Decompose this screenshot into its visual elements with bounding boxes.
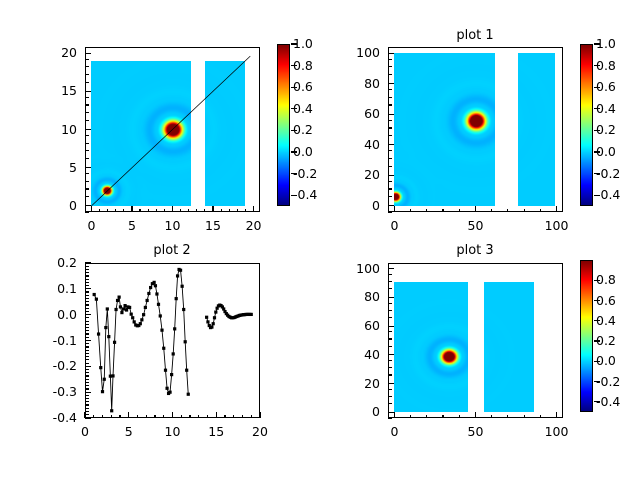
x-minor-tick — [233, 415, 234, 419]
y-minor-tick — [85, 321, 89, 322]
y-minor-tick — [85, 173, 89, 174]
y-minor-tick — [85, 188, 89, 189]
y-minor-tick — [85, 408, 89, 409]
y-minor-tick — [85, 266, 89, 267]
y-major-tick — [388, 53, 394, 54]
y-major-tick — [85, 288, 91, 289]
x-major-tick — [131, 206, 132, 212]
y-minor-tick — [85, 330, 89, 331]
x-tick-label: 5 — [125, 426, 133, 439]
y-minor-tick — [85, 291, 89, 292]
x-minor-tick — [102, 415, 103, 419]
y-minor-tick — [85, 196, 89, 197]
colorbar-tick-label: 0.4 — [293, 103, 313, 116]
x-tick-label: 10 — [165, 426, 181, 439]
colorbar-tick-label: 0.8 — [293, 59, 313, 72]
y-tick-label: -0.2 — [53, 360, 77, 373]
y-tick-label: 80 — [364, 77, 380, 90]
y-minor-tick — [388, 396, 392, 397]
y-major-tick — [388, 114, 394, 115]
x-minor-tick — [507, 209, 508, 213]
y-major-tick — [85, 53, 91, 54]
x-minor-tick — [237, 209, 238, 213]
figure-canvas: 05101520051015201.00.80.60.40.20.0-0.2-0… — [0, 0, 640, 480]
x-major-tick — [556, 412, 557, 418]
x-minor-tick — [164, 209, 165, 213]
y-tick-label: 40 — [364, 349, 380, 362]
colorbar-tick-label: 1.0 — [596, 38, 616, 51]
y-minor-tick — [85, 279, 89, 280]
x-tick-label: 100 — [545, 220, 569, 233]
y-tick-label: 0 — [372, 406, 380, 419]
y-major-tick — [85, 392, 91, 393]
y-tick-label: 60 — [364, 320, 380, 333]
y-tick-label: 20 — [364, 169, 380, 182]
y-minor-tick — [85, 311, 89, 312]
y-minor-tick — [85, 120, 89, 121]
y-minor-tick — [388, 89, 392, 90]
x-minor-tick — [207, 415, 208, 419]
x-minor-tick — [442, 209, 443, 213]
x-minor-tick — [139, 209, 140, 213]
x-tick-label: 20 — [252, 426, 268, 439]
x-minor-tick — [123, 209, 124, 213]
panel-bottom-right-axes-frame — [388, 263, 563, 418]
x-tick-label: 50 — [468, 220, 484, 233]
y-minor-tick — [85, 59, 89, 60]
y-minor-tick — [85, 275, 89, 276]
y-minor-tick — [388, 403, 392, 404]
y-minor-tick — [85, 324, 89, 325]
colorbar-tick-label: 0.4 — [596, 315, 616, 328]
y-minor-tick — [388, 303, 392, 304]
y-minor-tick — [85, 181, 89, 182]
x-minor-tick — [181, 415, 182, 419]
colorbar-tick-label: 0.2 — [293, 124, 313, 137]
colorbar-tick-label: 0.4 — [596, 103, 616, 116]
y-minor-tick — [85, 298, 89, 299]
colorbar-tick-label: -0.2 — [596, 167, 620, 180]
colorbar-tick-label: 0.8 — [596, 274, 616, 287]
panel-top-right-title: plot 1 — [456, 29, 493, 42]
x-major-tick — [259, 412, 260, 418]
x-minor-tick — [507, 415, 508, 419]
y-minor-tick — [85, 282, 89, 283]
y-minor-tick — [85, 272, 89, 273]
x-major-tick — [475, 206, 476, 212]
x-major-tick — [91, 206, 92, 212]
y-minor-tick — [85, 66, 89, 67]
y-tick-label: 0.2 — [57, 257, 77, 270]
x-minor-tick — [154, 415, 155, 419]
y-minor-tick — [85, 97, 89, 98]
x-minor-tick — [180, 209, 181, 213]
x-major-tick — [172, 206, 173, 212]
colorbar-tick-label: 0.6 — [596, 81, 616, 94]
x-minor-tick — [137, 415, 138, 419]
x-minor-tick — [204, 209, 205, 213]
y-major-tick — [85, 314, 91, 315]
colorbar-tick-label: -0.4 — [596, 189, 620, 202]
colorbar-tick-label: -0.2 — [596, 375, 620, 388]
y-minor-tick — [85, 404, 89, 405]
y-tick-label: 60 — [364, 108, 380, 121]
x-minor-tick — [189, 415, 190, 419]
y-minor-tick — [85, 369, 89, 370]
x-minor-tick — [459, 209, 460, 213]
x-minor-tick — [540, 209, 541, 213]
x-minor-tick — [442, 415, 443, 419]
y-major-tick — [85, 205, 91, 206]
colorbar-tick-label: 0.6 — [293, 81, 313, 94]
x-minor-tick — [229, 209, 230, 213]
y-tick-label: 0 — [372, 200, 380, 213]
y-major-tick — [388, 268, 394, 269]
y-major-tick — [388, 83, 394, 84]
y-tick-label: 0 — [69, 200, 77, 213]
y-minor-tick — [388, 120, 392, 121]
x-tick-label: 50 — [468, 426, 484, 439]
panel-top-left-axes-frame — [85, 47, 260, 212]
y-minor-tick — [388, 288, 392, 289]
y-major-tick — [388, 205, 394, 206]
y-tick-label: 0.1 — [57, 283, 77, 296]
colorbar-tick-label: -0.4 — [293, 189, 317, 202]
y-minor-tick — [85, 333, 89, 334]
y-minor-tick — [388, 181, 392, 182]
x-minor-tick — [93, 415, 94, 419]
y-minor-tick — [85, 388, 89, 389]
y-minor-tick — [85, 395, 89, 396]
y-major-tick — [388, 144, 394, 145]
x-major-tick — [172, 412, 173, 418]
x-tick-label: 15 — [208, 426, 224, 439]
x-minor-tick — [146, 415, 147, 419]
x-tick-label: 0 — [81, 426, 89, 439]
colorbar-tick-label: 0.0 — [596, 355, 616, 368]
y-major-tick — [85, 417, 91, 418]
colorbar-tick-label: 0.6 — [596, 294, 616, 307]
x-minor-tick — [524, 209, 525, 213]
x-major-tick — [556, 206, 557, 212]
x-minor-tick — [524, 415, 525, 419]
y-minor-tick — [85, 372, 89, 373]
colorbar-tick-label: 1.0 — [293, 38, 313, 51]
x-minor-tick — [196, 209, 197, 213]
y-minor-tick — [85, 285, 89, 286]
y-minor-tick — [388, 66, 392, 67]
y-tick-label: 40 — [364, 139, 380, 152]
y-minor-tick — [388, 127, 392, 128]
x-minor-tick — [251, 415, 252, 419]
y-minor-tick — [85, 327, 89, 328]
x-major-tick — [394, 206, 395, 212]
y-minor-tick — [388, 389, 392, 390]
y-tick-label: 5 — [69, 161, 77, 174]
y-minor-tick — [388, 59, 392, 60]
y-minor-tick — [85, 82, 89, 83]
y-minor-tick — [85, 353, 89, 354]
y-major-tick — [85, 340, 91, 341]
y-minor-tick — [388, 360, 392, 361]
y-minor-tick — [388, 74, 392, 75]
y-minor-tick — [85, 363, 89, 364]
x-minor-tick — [198, 415, 199, 419]
y-minor-tick — [388, 196, 392, 197]
y-tick-label: 20 — [364, 377, 380, 390]
panel-bottom-right-colorbar — [580, 260, 593, 412]
y-minor-tick — [85, 269, 89, 270]
y-minor-tick — [388, 317, 392, 318]
x-tick-label: 0 — [390, 426, 398, 439]
y-minor-tick — [388, 274, 392, 275]
y-minor-tick — [85, 359, 89, 360]
y-tick-label: 80 — [364, 291, 380, 304]
y-minor-tick — [85, 385, 89, 386]
x-minor-tick — [119, 415, 120, 419]
y-minor-tick — [85, 301, 89, 302]
panel-top-right-colorbar — [580, 44, 593, 206]
y-tick-label: -0.1 — [53, 334, 77, 347]
y-minor-tick — [85, 356, 89, 357]
x-minor-tick — [107, 209, 108, 213]
y-minor-tick — [388, 166, 392, 167]
y-major-tick — [85, 91, 91, 92]
x-tick-label: 15 — [205, 220, 221, 233]
y-major-tick — [388, 326, 394, 327]
x-tick-label: 0 — [87, 220, 95, 233]
y-minor-tick — [388, 97, 392, 98]
y-tick-label: 15 — [61, 85, 77, 98]
y-tick-label: -0.3 — [53, 386, 77, 399]
y-minor-tick — [85, 317, 89, 318]
y-minor-tick — [85, 135, 89, 136]
y-minor-tick — [85, 112, 89, 113]
panel-bottom-left-axes-frame — [85, 263, 260, 418]
y-minor-tick — [388, 331, 392, 332]
y-tick-label: 100 — [356, 262, 380, 275]
x-minor-tick — [242, 415, 243, 419]
y-major-tick — [388, 354, 394, 355]
y-minor-tick — [85, 308, 89, 309]
x-tick-label: 100 — [545, 426, 569, 439]
y-minor-tick — [388, 281, 392, 282]
x-tick-label: 10 — [165, 220, 181, 233]
y-minor-tick — [388, 338, 392, 339]
y-tick-label: 20 — [61, 47, 77, 60]
y-minor-tick — [388, 374, 392, 375]
y-minor-tick — [388, 150, 392, 151]
x-major-tick — [394, 412, 395, 418]
y-minor-tick — [85, 343, 89, 344]
x-minor-tick — [491, 415, 492, 419]
x-minor-tick — [99, 209, 100, 213]
y-minor-tick — [85, 150, 89, 151]
x-tick-label: 20 — [246, 220, 262, 233]
x-major-tick — [253, 206, 254, 212]
y-minor-tick — [85, 375, 89, 376]
y-minor-tick — [85, 337, 89, 338]
colorbar-tick-label: 0.0 — [293, 146, 313, 159]
panel-top-left-colorbar — [277, 44, 290, 206]
x-minor-tick — [221, 209, 222, 213]
colorbar-tick-label: 0.2 — [596, 124, 616, 137]
y-tick-label: -0.4 — [53, 412, 77, 425]
colorbar-tick-label: -0.2 — [293, 167, 317, 180]
x-minor-tick — [224, 415, 225, 419]
x-major-tick — [128, 412, 129, 418]
y-minor-tick — [85, 346, 89, 347]
y-major-tick — [85, 167, 91, 168]
x-minor-tick — [410, 209, 411, 213]
y-minor-tick — [388, 104, 392, 105]
y-minor-tick — [85, 304, 89, 305]
colorbar-tick-label: 0.2 — [596, 335, 616, 348]
y-minor-tick — [85, 414, 89, 415]
y-tick-label: 0.0 — [57, 308, 77, 321]
y-minor-tick — [85, 401, 89, 402]
y-tick-label: 100 — [356, 47, 380, 60]
x-minor-tick — [245, 209, 246, 213]
panel-bottom-left-title: plot 2 — [153, 244, 190, 257]
panel-bottom-right-title: plot 3 — [456, 244, 493, 257]
x-minor-tick — [188, 209, 189, 213]
y-major-tick — [388, 175, 394, 176]
x-major-tick — [475, 412, 476, 418]
y-minor-tick — [388, 135, 392, 136]
y-minor-tick — [388, 417, 392, 418]
y-minor-tick — [85, 143, 89, 144]
y-minor-tick — [388, 310, 392, 311]
x-major-tick — [212, 206, 213, 212]
x-minor-tick — [426, 415, 427, 419]
x-minor-tick — [156, 209, 157, 213]
y-major-tick — [388, 297, 394, 298]
y-minor-tick — [388, 188, 392, 189]
y-major-tick — [388, 383, 394, 384]
colorbar-tick-label: 0.8 — [596, 59, 616, 72]
y-minor-tick — [85, 211, 89, 212]
y-minor-tick — [388, 367, 392, 368]
x-minor-tick — [163, 415, 164, 419]
x-minor-tick — [115, 209, 116, 213]
y-minor-tick — [85, 295, 89, 296]
x-minor-tick — [410, 415, 411, 419]
y-minor-tick — [388, 346, 392, 347]
x-minor-tick — [491, 209, 492, 213]
y-minor-tick — [85, 74, 89, 75]
x-tick-label: 0 — [390, 220, 398, 233]
colorbar-tick-label: -0.4 — [596, 396, 620, 409]
y-major-tick — [85, 129, 91, 130]
panel-top-right-axes-frame — [388, 47, 563, 212]
x-minor-tick — [426, 209, 427, 213]
x-tick-label: 5 — [128, 220, 136, 233]
y-major-tick — [85, 366, 91, 367]
x-minor-tick — [459, 415, 460, 419]
y-minor-tick — [85, 411, 89, 412]
y-major-tick — [388, 412, 394, 413]
y-tick-label: 10 — [61, 123, 77, 136]
y-major-tick — [85, 262, 91, 263]
x-minor-tick — [148, 209, 149, 213]
y-minor-tick — [388, 211, 392, 212]
x-minor-tick — [540, 415, 541, 419]
y-minor-tick — [388, 158, 392, 159]
y-minor-tick — [85, 350, 89, 351]
y-minor-tick — [85, 158, 89, 159]
y-minor-tick — [85, 398, 89, 399]
y-minor-tick — [85, 379, 89, 380]
colorbar-tick-label: 0.0 — [596, 146, 616, 159]
y-minor-tick — [85, 104, 89, 105]
x-minor-tick — [111, 415, 112, 419]
x-major-tick — [216, 412, 217, 418]
y-minor-tick — [85, 382, 89, 383]
